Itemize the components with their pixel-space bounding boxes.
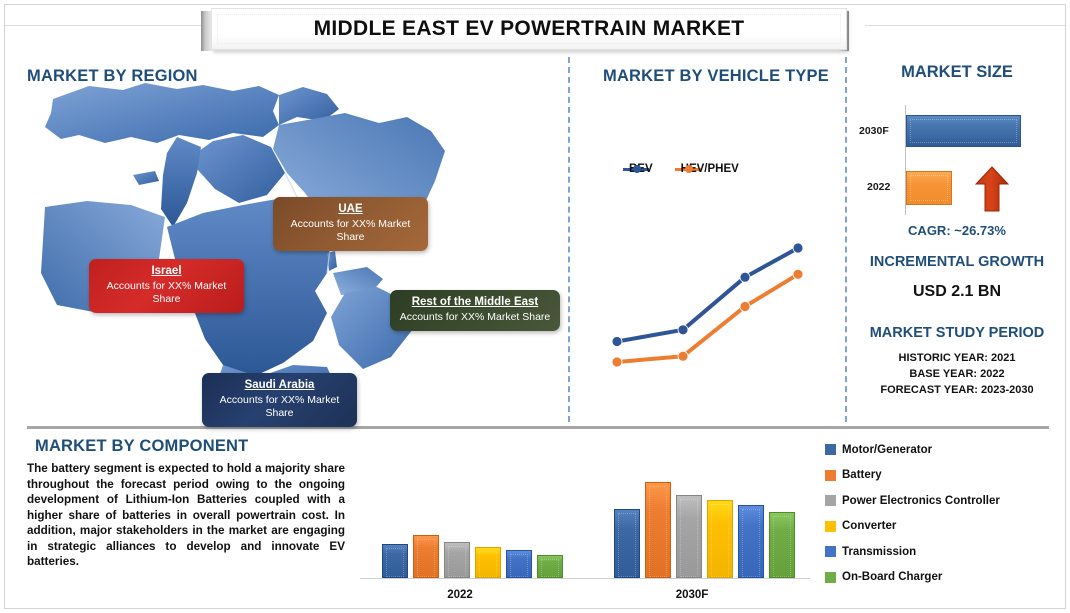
title-banner: MIDDLE EAST EV POWERTRAIN MARKET: [201, 7, 849, 51]
base-year: BASE YEAR: 2022: [857, 367, 1057, 383]
vehicle-type-legend: BEV HEV/PHEV: [623, 163, 838, 175]
component-xlabel-2022: 2022: [360, 589, 560, 601]
market-size-panel: MARKET SIZE 2030F 2022 CAGR: ~26.73% INC…: [857, 63, 1057, 423]
legend-item-hev-phev[interactable]: HEV/PHEV: [675, 163, 739, 175]
component-bar: [769, 512, 795, 578]
legend-marker-bev: [633, 165, 641, 173]
component-legend-label: Transmission: [842, 546, 916, 558]
component-bar: [413, 535, 439, 578]
market-size-label-2022: 2022: [867, 181, 890, 193]
component-bar-chart: 2022 2030F: [360, 455, 810, 605]
historic-year: HISTORIC YEAR: 2021: [857, 351, 1057, 367]
component-bar: [676, 495, 702, 578]
market-study-period-title: MARKET STUDY PERIOD: [857, 325, 1057, 341]
component-bar: [707, 500, 733, 578]
component-legend-swatch: [825, 495, 836, 506]
incremental-growth-title: INCREMENTAL GROWTH: [857, 254, 1057, 270]
incremental-growth-value: USD 2.1 BN: [857, 283, 1057, 301]
map-tag-israel-share: Accounts for XX% Market Share: [97, 280, 236, 306]
component-legend: Motor/GeneratorBatteryPower Electronics …: [825, 437, 1050, 590]
banner-body: MIDDLE EAST EV POWERTRAIN MARKET: [211, 8, 847, 50]
component-legend-item[interactable]: Converter: [825, 514, 1050, 540]
up-arrow-icon: [975, 166, 1009, 212]
forecast-year: FORECAST YEAR: 2023-2030: [857, 383, 1057, 399]
component-xlabel-2030f: 2030F: [592, 589, 792, 601]
map-tag-uae-name: UAE: [281, 202, 420, 216]
component-legend-swatch: [825, 444, 836, 455]
legend-marker-hev-phev: [685, 165, 693, 173]
map-tag-uae-share: Accounts for XX% Market Share: [281, 218, 420, 244]
map-tag-saudi-share: Accounts for XX% Market Share: [210, 394, 349, 420]
cagr-label: CAGR: ~26.73%: [857, 223, 1057, 238]
section-title-vehicle-type: MARKET BY VEHICLE TYPE: [603, 67, 829, 86]
map-tag-saudi-arabia[interactable]: Saudi Arabia Accounts for XX% Market Sha…: [202, 373, 357, 427]
component-legend-item[interactable]: On-Board Charger: [825, 565, 1050, 591]
map-tag-rome-name: Rest of the Middle East: [398, 295, 552, 309]
component-legend-item[interactable]: Battery: [825, 463, 1050, 489]
component-legend-label: Converter: [842, 520, 896, 532]
banner-rule-right: [865, 25, 1065, 26]
map-tag-rome-share: Accounts for XX% Market Share: [398, 311, 552, 324]
divider-vertical-left: [568, 57, 570, 422]
section-title-market-size: MARKET SIZE: [857, 63, 1057, 82]
component-bar: [382, 544, 408, 578]
section-title-component: MARKET BY COMPONENT: [35, 437, 248, 456]
component-legend-label: Motor/Generator: [842, 444, 932, 456]
component-legend-item[interactable]: Motor/Generator: [825, 437, 1050, 463]
component-bar: [645, 482, 671, 578]
map-tag-uae[interactable]: UAE Accounts for XX% Market Share: [273, 197, 428, 251]
component-bar: [614, 509, 640, 578]
component-bar: [444, 542, 470, 578]
component-legend-swatch: [825, 521, 836, 532]
map-tag-saudi-name: Saudi Arabia: [210, 378, 349, 392]
map-tag-israel[interactable]: Israel Accounts for XX% Market Share: [89, 259, 244, 313]
component-legend-item[interactable]: Transmission: [825, 539, 1050, 565]
component-legend-label: Battery: [842, 469, 882, 481]
vehicle-type-line-chart: BEV HEV/PHEV: [585, 100, 835, 370]
component-bar: [506, 550, 532, 578]
divider-vertical-right: [845, 57, 847, 422]
map-tag-rest-of-middle-east[interactable]: Rest of the Middle East Accounts for XX%…: [390, 290, 560, 331]
component-description: The battery segment is expected to hold …: [27, 461, 345, 570]
map-tag-israel-name: Israel: [97, 264, 236, 278]
component-legend-swatch: [825, 546, 836, 557]
component-bar: [537, 555, 563, 578]
component-legend-swatch: [825, 572, 836, 583]
component-legend-swatch: [825, 470, 836, 481]
component-bar: [475, 547, 501, 578]
component-legend-label: Power Electronics Controller: [842, 495, 1000, 507]
infographic-frame: MIDDLE EAST EV POWERTRAIN MARKET MARKET …: [4, 4, 1066, 609]
market-size-label-2030f: 2030F: [859, 125, 889, 137]
banner-rule-left: [5, 25, 203, 26]
market-size-bar-2030f: [906, 115, 1021, 147]
component-chart-baseline: [360, 578, 810, 579]
component-bar: [738, 505, 764, 578]
legend-item-bev[interactable]: BEV: [623, 163, 653, 175]
component-legend-item[interactable]: Power Electronics Controller: [825, 488, 1050, 514]
market-size-bar-2022: [906, 171, 952, 205]
component-legend-label: On-Board Charger: [842, 571, 942, 583]
vehicle-type-plot: [585, 100, 835, 370]
page-title: MIDDLE EAST EV POWERTRAIN MARKET: [314, 17, 745, 41]
middle-east-map: UAE Accounts for XX% Market Share Israel…: [27, 77, 547, 422]
divider-horizontal: [27, 426, 1049, 429]
